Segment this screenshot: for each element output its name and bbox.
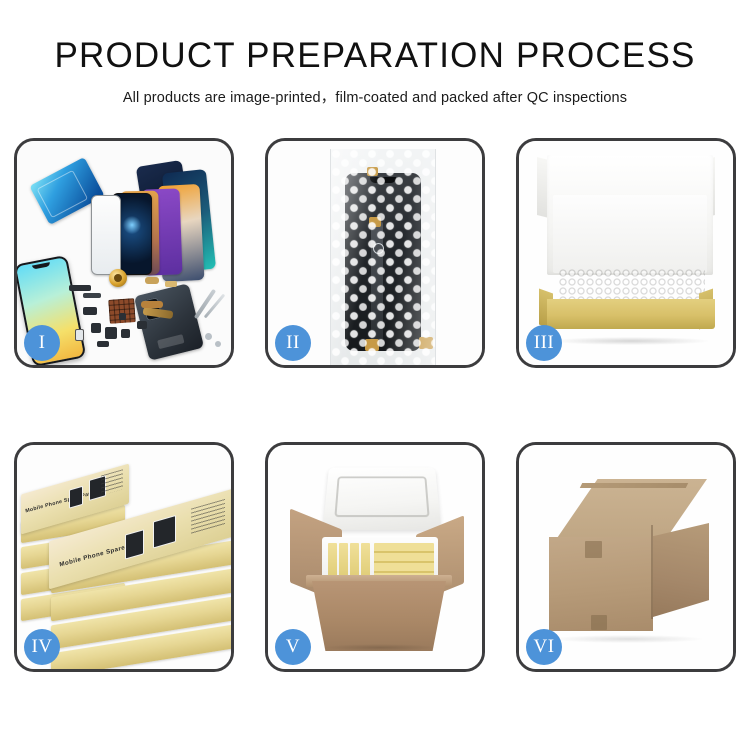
box-label-text: Mobile Phone Spare Parts bbox=[25, 490, 96, 515]
foam-lid-icon bbox=[323, 468, 442, 530]
spare-part-icon bbox=[69, 285, 91, 291]
foam-sheet-icon bbox=[553, 195, 707, 273]
bubble-wrap-bag-icon bbox=[330, 149, 436, 365]
spare-part-icon bbox=[165, 281, 177, 287]
product-preparation-infographic: PRODUCT PREPARATION PROCESS All products… bbox=[0, 0, 750, 750]
drop-shadow bbox=[553, 635, 703, 643]
process-step-panel-6: VI bbox=[516, 442, 736, 672]
screw-icon bbox=[205, 333, 212, 340]
step-number-badge: III bbox=[526, 325, 562, 361]
drop-shadow bbox=[322, 644, 438, 651]
spare-part-icon bbox=[145, 277, 159, 284]
speaker-coil-icon bbox=[109, 269, 127, 287]
screw-icon bbox=[215, 341, 221, 347]
plastic-sheen bbox=[331, 149, 435, 365]
bubble-wrapped-contents-icon bbox=[559, 269, 705, 301]
process-step-panel-1: I bbox=[14, 138, 234, 368]
spare-part-icon bbox=[83, 307, 97, 315]
spare-part-icon bbox=[119, 313, 126, 320]
drop-shadow bbox=[553, 337, 709, 345]
spare-part-icon bbox=[91, 323, 101, 333]
spare-part-icon bbox=[83, 293, 101, 298]
box-spec-lines bbox=[191, 499, 225, 535]
step-number-badge: VI bbox=[526, 629, 562, 665]
box-spec-lines bbox=[101, 469, 123, 495]
carton-tape-patch bbox=[591, 615, 607, 630]
spare-part-icon bbox=[105, 327, 117, 339]
process-step-grid: I II bbox=[14, 138, 736, 674]
page-subtitle: All products are image-printed，film-coat… bbox=[0, 86, 750, 107]
kraft-box-front bbox=[547, 299, 715, 329]
step-number-badge: I bbox=[24, 325, 60, 361]
chip-icon bbox=[108, 298, 136, 324]
spare-part-icon bbox=[97, 341, 109, 347]
carton-body bbox=[312, 581, 446, 651]
process-step-panel-2: II bbox=[265, 138, 485, 368]
step-number-badge: V bbox=[275, 629, 311, 665]
carton-top-seam bbox=[580, 483, 688, 488]
process-step-panel-3: III bbox=[516, 138, 736, 368]
carton-tape-patch bbox=[585, 541, 602, 558]
box-artwork-thumbnail bbox=[69, 486, 83, 509]
screen-glass-icon bbox=[91, 195, 121, 275]
box-artwork-thumbnail bbox=[153, 515, 176, 549]
carton-corner-edge bbox=[651, 525, 653, 619]
header: PRODUCT PREPARATION PROCESS All products… bbox=[0, 38, 750, 107]
spare-part-icon bbox=[121, 329, 130, 338]
box-artwork-thumbnail bbox=[125, 529, 144, 559]
process-step-panel-4: Mobile Phone Spare Parts Mobile Phone Sp… bbox=[14, 442, 234, 672]
spare-part-icon bbox=[141, 301, 163, 308]
carton-side-face bbox=[653, 523, 709, 617]
spare-part-icon bbox=[75, 329, 84, 341]
page-title: PRODUCT PREPARATION PROCESS bbox=[0, 38, 750, 75]
step-number-badge: II bbox=[275, 325, 311, 361]
spare-part-icon bbox=[137, 321, 147, 329]
step-number-badge: IV bbox=[24, 629, 60, 665]
process-step-panel-5: V bbox=[265, 442, 485, 672]
